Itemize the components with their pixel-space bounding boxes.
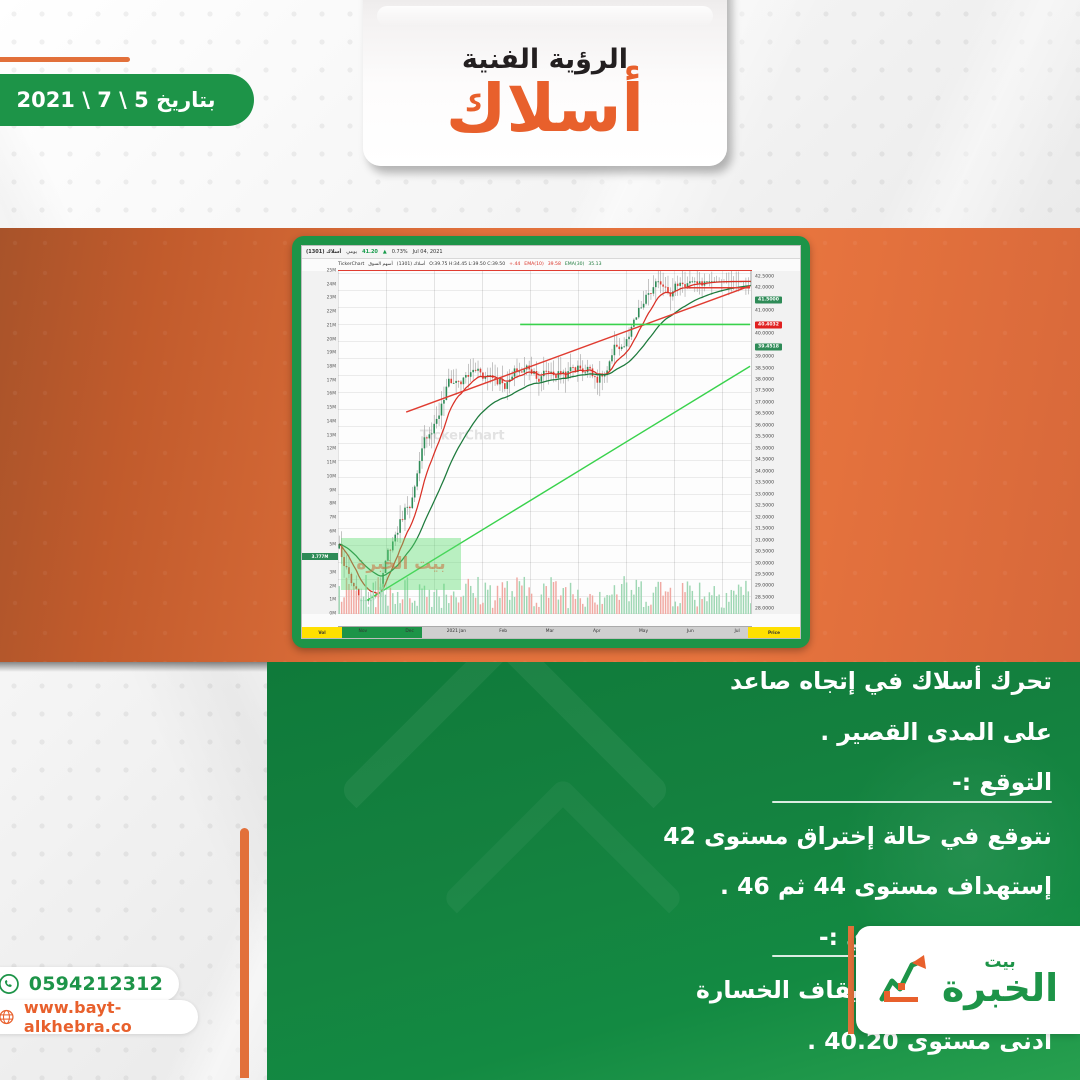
price-tick: 29.0000 xyxy=(755,584,774,589)
date-accent-rule xyxy=(0,57,130,62)
price-tick: 42.0000 xyxy=(755,286,774,291)
legend-change: +.44 xyxy=(509,262,520,267)
price-marker-green: 39.4518 xyxy=(755,343,782,350)
price-tick: 35.0000 xyxy=(755,446,774,451)
price-tick: 41.0000 xyxy=(755,309,774,314)
price-tick: 37.5000 xyxy=(755,389,774,394)
logo-wordmark: بيت الخبرة xyxy=(942,955,1058,1004)
volume-tick: 3M xyxy=(329,570,336,575)
date-tick: Mar xyxy=(546,629,554,634)
volume-tick: 18M xyxy=(327,365,336,370)
chart-plot-area[interactable]: TickerChart بيت الخبرة xyxy=(338,271,752,614)
chart-last-price: 41.20 xyxy=(362,249,378,255)
price-tick: 28.0000 xyxy=(755,607,774,612)
volume-tick: 0M xyxy=(329,612,336,617)
date-badge: بتاريخ 5 \ 7 \ 2021 xyxy=(0,74,254,126)
chart-symbol: أسلاك (1301) xyxy=(306,249,341,255)
date-tick: Dec xyxy=(405,629,414,634)
volume-tick: 13M xyxy=(327,433,336,438)
legend-ema10-label: EMA(10) xyxy=(524,262,543,267)
price-tick: 29.5000 xyxy=(755,572,774,577)
volume-tick: 7M xyxy=(329,515,336,520)
legend-ohlc: O:39.75 H:34.45 L:39.50 C:39.50 xyxy=(429,262,505,267)
date-tick: 2021 Jan xyxy=(447,629,466,634)
volume-tick: 17M xyxy=(327,378,336,383)
analysis-line-4: إستهداف مستوى 44 ثم 46 . xyxy=(472,875,1052,899)
poster-root: بتاريخ 5 \ 7 \ 2021 الرؤية الفنية أسلاك … xyxy=(0,0,1080,1080)
price-tick: 35.5000 xyxy=(755,435,774,440)
date-tick: Jun xyxy=(687,629,694,634)
price-tick: 38.0000 xyxy=(755,377,774,382)
volume-tick: 15M xyxy=(327,406,336,411)
volume-tick: 6M xyxy=(329,529,336,534)
date-tick: May xyxy=(639,629,648,634)
volume-tick: 11M xyxy=(327,461,336,466)
chart-toolbar: أسلاك (1301) يومي 41.20 ▲ 0.73% Jul 04, … xyxy=(302,246,800,259)
date-tick: Apr xyxy=(593,629,601,634)
whatsapp-contact[interactable]: 0594212312 xyxy=(0,967,179,1001)
legend-series: أسهم السوق xyxy=(368,262,392,267)
chart-canvas[interactable]: أسلاك (1301) يومي 41.20 ▲ 0.73% Jul 04, … xyxy=(301,245,801,639)
chart-date: Jul 04, 2021 xyxy=(413,249,443,255)
date-axis: NovDec2021 JanFebMarAprMayJunJul xyxy=(338,626,752,638)
volume-tick: 9M xyxy=(329,488,336,493)
volume-tick: 14M xyxy=(327,419,336,424)
price-tick: 36.5000 xyxy=(755,412,774,417)
volume-tick: 1M xyxy=(329,598,336,603)
price-axis: 42.500042.000041.500041.000040.000039.00… xyxy=(751,271,800,614)
brand-logo[interactable]: بيت الخبرة xyxy=(856,926,1080,1034)
price-tick: 38.5000 xyxy=(755,366,774,371)
title-card-sheen xyxy=(377,6,713,26)
panel-accent-bar xyxy=(240,828,249,1078)
analysis-line-3: نتوقع في حالة إختراق مستوى 42 xyxy=(472,825,1052,849)
phone-number: 0594212312 xyxy=(29,973,163,995)
chart-change-pct: 0.73% xyxy=(392,249,408,255)
corner-tag-right: Price xyxy=(748,627,800,638)
brand-watermark: بيت الخبرة xyxy=(341,538,461,590)
logo-main-word: الخبرة xyxy=(942,971,1058,1005)
volume-tick: 10M xyxy=(327,474,336,479)
volume-tick: 24M xyxy=(327,282,336,287)
forecast-heading: التوقع :- xyxy=(472,771,1052,795)
analysis-line-1: تحرك أسلاك في إتجاه صاعد xyxy=(472,670,1052,694)
logo-accent-bar xyxy=(848,926,854,1034)
price-marker-red: 40.4032 xyxy=(755,321,782,328)
legend-ema10-value: 39.58 xyxy=(548,262,561,267)
price-tick: 40.0000 xyxy=(755,332,774,337)
legend-ema30-label: EMA(30) xyxy=(565,262,584,267)
website-contact[interactable]: www.bayt-alkhebra.co xyxy=(0,1000,198,1034)
volume-tick: 19M xyxy=(327,351,336,356)
price-tick: 33.5000 xyxy=(755,481,774,486)
page-title: أسلاك xyxy=(446,77,644,142)
volume-tick: 12M xyxy=(327,447,336,452)
date-tick: Nov xyxy=(359,629,368,634)
legend-ema30-value: 35.13 xyxy=(588,262,601,267)
price-marker-green: 41.5000 xyxy=(755,296,782,303)
globe-icon xyxy=(0,1006,15,1028)
chart-interval: يومي xyxy=(346,249,357,255)
corner-tag-left: Vol xyxy=(302,627,342,638)
growth-arrow-house-icon xyxy=(878,949,936,1011)
legend-symbol: أسلاك (1301) xyxy=(397,262,425,267)
volume-value-tag: 3.777M xyxy=(302,553,338,560)
volume-axis: 25M24M23M22M21M20M19M18M17M16M15M14M13M1… xyxy=(302,271,339,614)
price-tick: 31.0000 xyxy=(755,538,774,543)
volume-tick: 20M xyxy=(327,337,336,342)
volume-tick: 2M xyxy=(329,584,336,589)
price-tick: 33.0000 xyxy=(755,492,774,497)
analysis-line-2: على المدى القصير . xyxy=(472,721,1052,745)
price-tick: 37.0000 xyxy=(755,400,774,405)
price-tick: 32.5000 xyxy=(755,504,774,509)
price-tick: 32.0000 xyxy=(755,515,774,520)
price-tick: 31.5000 xyxy=(755,527,774,532)
legend-provider: TickerChart xyxy=(338,262,364,267)
price-tick: 36.0000 xyxy=(755,423,774,428)
price-tick: 30.0000 xyxy=(755,561,774,566)
volume-tick: 22M xyxy=(327,310,336,315)
volume-tick: 16M xyxy=(327,392,336,397)
price-tick: 34.5000 xyxy=(755,458,774,463)
date-tick: Jul xyxy=(734,629,739,634)
price-tick: 42.5000 xyxy=(755,274,774,279)
price-tick: 34.0000 xyxy=(755,469,774,474)
volume-tick: 5M xyxy=(329,543,336,548)
volume-tick: 25M xyxy=(327,269,336,274)
price-tick: 39.0000 xyxy=(755,355,774,360)
chart-frame: أسلاك (1301) يومي 41.20 ▲ 0.73% Jul 04, … xyxy=(292,236,810,648)
change-arrow-icon: ▲ xyxy=(383,249,387,255)
volume-tick: 8M xyxy=(329,502,336,507)
website-url: www.bayt-alkhebra.co xyxy=(24,998,182,1036)
whatsapp-icon xyxy=(0,973,20,995)
price-tick: 28.5000 xyxy=(755,595,774,600)
price-tick: 30.5000 xyxy=(755,550,774,555)
chart-legend: TickerChart أسهم السوق أسلاك (1301) O:39… xyxy=(338,260,752,269)
volume-tick: 21M xyxy=(327,323,336,328)
date-tick: Feb xyxy=(499,629,507,634)
forecast-underline xyxy=(772,801,1052,803)
volume-tick: 23M xyxy=(327,296,336,301)
title-card: الرؤية الفنية أسلاك xyxy=(363,0,727,166)
